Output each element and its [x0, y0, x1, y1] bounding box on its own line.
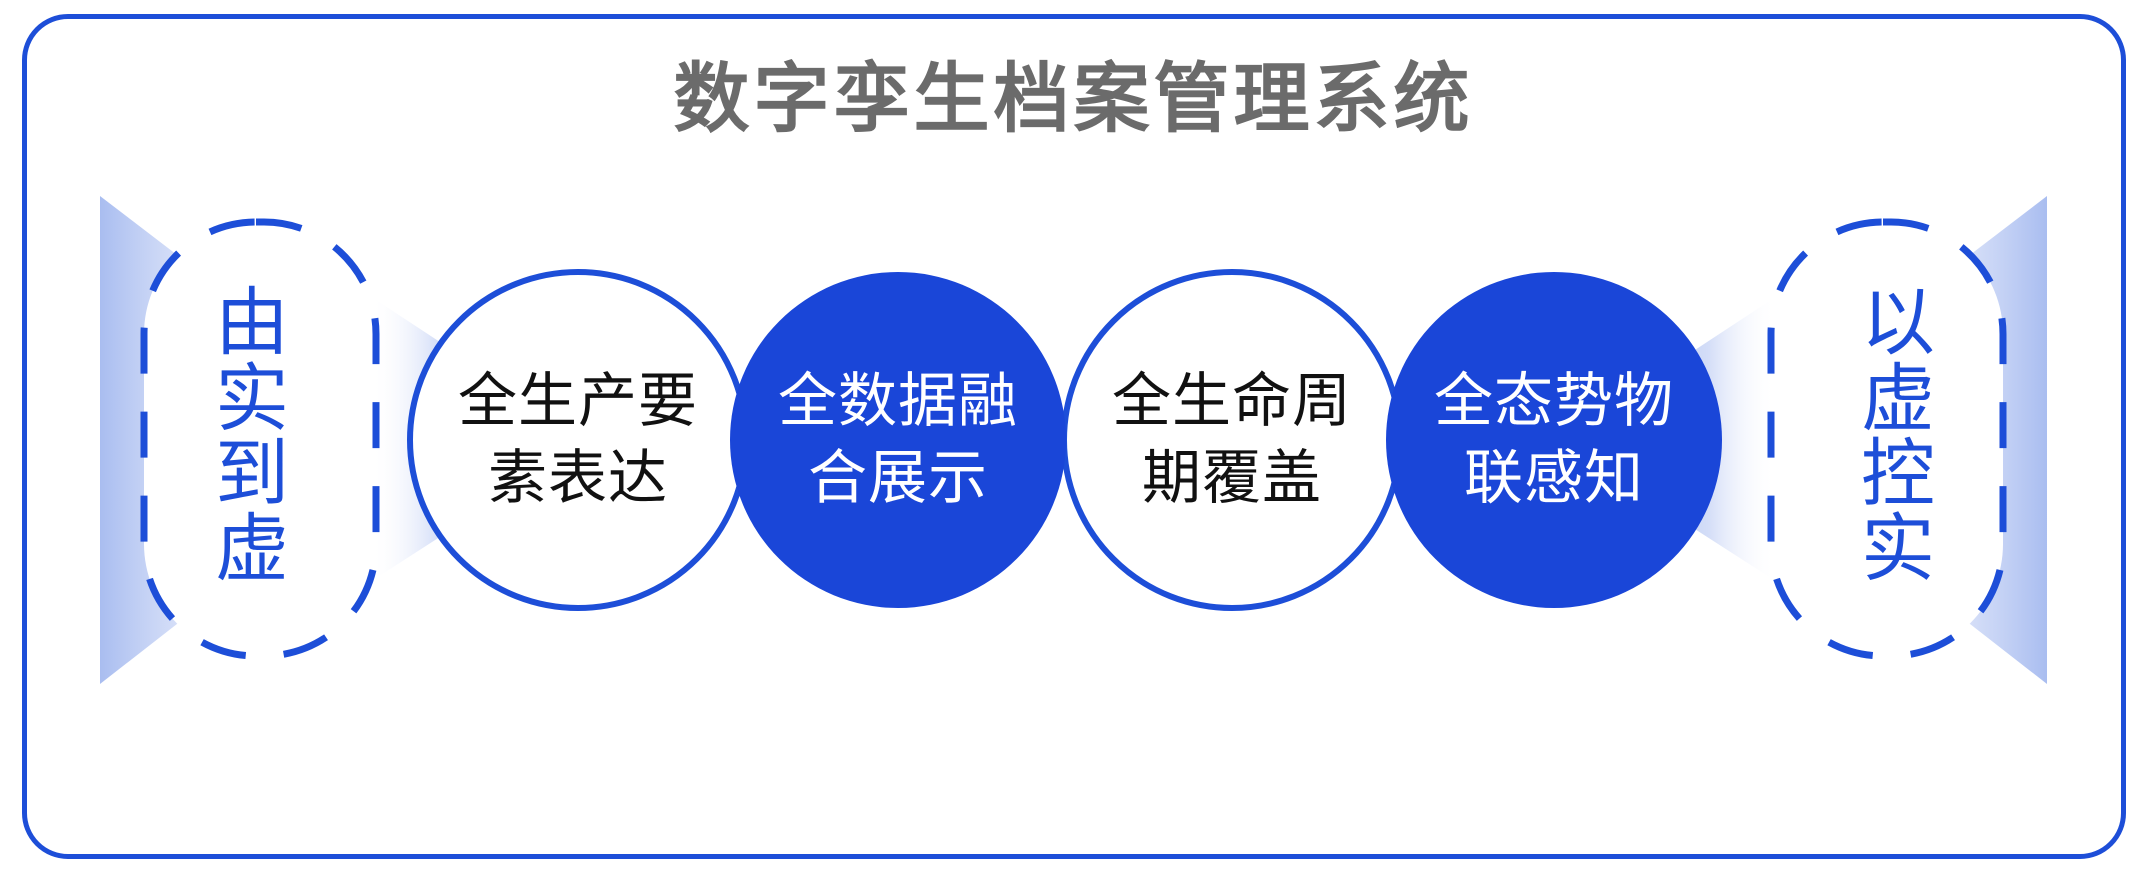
circle-4-line-2: 联感知 — [1464, 440, 1644, 517]
right-capsule-char-3: 控 — [1861, 436, 1935, 511]
left-capsule-char-3: 到 — [215, 436, 289, 511]
circle-1-line-2: 素表达 — [488, 440, 668, 517]
right-capsule-char-4: 实 — [1861, 511, 1935, 586]
circle-4-line-1: 全态势物 — [1434, 363, 1674, 440]
circle-3-label: 全生命周 期覆盖 — [1064, 350, 1400, 530]
left-capsule-char-2: 实 — [215, 361, 289, 436]
right-capsule-label: 以 虚 控 实 — [1828, 236, 1968, 636]
circle-1-label: 全生产要 素表达 — [410, 350, 746, 530]
circle-3-line-2: 期覆盖 — [1142, 440, 1322, 517]
left-capsule-char-1: 由 — [215, 285, 289, 360]
circle-2-line-1: 全数据融 — [778, 363, 1018, 440]
left-capsule-label: 由 实 到 虚 — [182, 236, 322, 636]
right-capsule-char-1: 以 — [1861, 285, 1935, 360]
circle-2-line-2: 合展示 — [808, 440, 988, 517]
circle-3-line-1: 全生命周 — [1112, 363, 1352, 440]
left-capsule-char-4: 虚 — [215, 511, 289, 586]
diagram-canvas: 数字孪生档案管理系统 — [0, 0, 2147, 872]
circle-4-label: 全态势物 联感知 — [1386, 350, 1722, 530]
right-capsule-char-2: 虚 — [1861, 361, 1935, 436]
circle-2-label: 全数据融 合展示 — [730, 350, 1066, 530]
circle-1-line-1: 全生产要 — [458, 363, 698, 440]
